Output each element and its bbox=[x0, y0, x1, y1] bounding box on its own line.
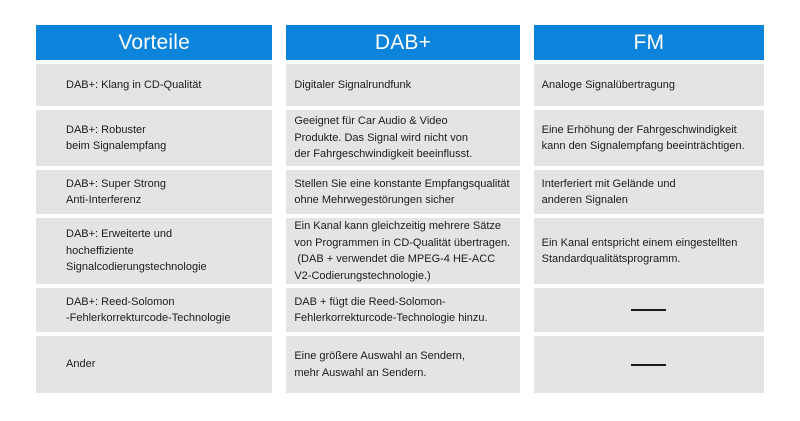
column-header-fm: FM bbox=[534, 25, 764, 60]
cell-line: DAB+: Erweiterte und bbox=[66, 226, 262, 243]
table-cell: Ein Kanal kann gleichzeitig mehrere Sätz… bbox=[286, 218, 519, 284]
column-advantages: Vorteile DAB+: Klang in CD-Qualität DAB+… bbox=[36, 25, 272, 393]
table-cell-empty bbox=[534, 288, 764, 332]
cell-line: -Fehlerkorrekturcode-Technologie bbox=[66, 310, 262, 327]
cell-line: DAB+: Klang in CD-Qualität bbox=[66, 77, 262, 94]
cell-line: V2-Codierungstechnologie.) bbox=[294, 268, 511, 285]
cell-line: DAB+: Reed-Solomon bbox=[66, 294, 262, 311]
cell-line: kann den Signalempfang beeinträchtigen. bbox=[542, 138, 756, 155]
cell-line: DAB + fügt die Reed-Solomon- bbox=[294, 294, 511, 311]
cell-line: beim Signalempfang bbox=[66, 138, 262, 155]
cell-line: der Fahrgeschwindigkeit beeinflusst. bbox=[294, 146, 511, 163]
table-cell: DAB+: Robuster beim Signalempfang bbox=[36, 110, 272, 166]
table-cell: Ander bbox=[36, 336, 272, 393]
table-cell: Eine größere Auswahl an Sendern, mehr Au… bbox=[286, 336, 519, 393]
table-cell: DAB+: Super Strong Anti-Interferenz bbox=[36, 170, 272, 214]
table-cell: DAB+: Klang in CD-Qualität bbox=[36, 64, 272, 106]
cell-line: Anti-Interferenz bbox=[66, 192, 262, 209]
cell-line: Produkte. Das Signal wird nicht von bbox=[294, 130, 511, 147]
cell-line: Ein Kanal kann gleichzeitig mehrere Sätz… bbox=[294, 218, 511, 235]
table-cell: DAB + fügt die Reed-Solomon- Fehlerkorre… bbox=[286, 288, 519, 332]
cell-line: Geeignet für Car Audio & Video bbox=[294, 113, 511, 130]
cell-line: ohne Mehrwegestörungen sicher bbox=[294, 192, 511, 209]
table-cell: DAB+: Erweiterte und hocheffiziente Sign… bbox=[36, 218, 272, 284]
cell-line: von Programmen in CD-Qualität übertragen… bbox=[294, 235, 511, 252]
cell-line: mehr Auswahl an Sendern. bbox=[294, 365, 511, 382]
column-dab: DAB+ Digitaler Signalrundfunk Geeignet f… bbox=[286, 25, 519, 393]
cell-line: Ander bbox=[66, 356, 262, 373]
cell-line: Analoge Signalübertragung bbox=[542, 77, 756, 94]
column-fm: FM Analoge Signalübertragung Eine Erhöhu… bbox=[534, 25, 764, 393]
cell-line: (DAB + verwendet die MPEG-4 HE-ACC bbox=[294, 251, 511, 268]
table-cell: Ein Kanal entspricht einem eingestellten… bbox=[534, 218, 764, 284]
cell-line: hocheffiziente bbox=[66, 243, 262, 260]
comparison-table: Vorteile DAB+: Klang in CD-Qualität DAB+… bbox=[36, 25, 764, 393]
table-cell: Analoge Signalübertragung bbox=[534, 64, 764, 106]
table-cell: Eine Erhöhung der Fahrgeschwindigkeit ka… bbox=[534, 110, 764, 166]
cell-line: Digitaler Signalrundfunk bbox=[294, 77, 511, 94]
cell-line: Stellen Sie eine konstante Empfangsquali… bbox=[294, 176, 511, 193]
cell-line: Standardqualitätsprogramm. bbox=[542, 251, 756, 268]
cell-line: DAB+: Super Strong bbox=[66, 176, 262, 193]
column-header-advantages: Vorteile bbox=[36, 25, 272, 60]
em-dash-icon bbox=[631, 309, 666, 311]
table-cell: Digitaler Signalrundfunk bbox=[286, 64, 519, 106]
column-header-dab: DAB+ bbox=[286, 25, 519, 60]
cell-line: DAB+: Robuster bbox=[66, 122, 262, 139]
table-cell: DAB+: Reed-Solomon -Fehlerkorrekturcode-… bbox=[36, 288, 272, 332]
em-dash-icon bbox=[631, 364, 666, 366]
table-cell-empty bbox=[534, 336, 764, 393]
cell-line: Ein Kanal entspricht einem eingestellten bbox=[542, 235, 756, 252]
cell-line: Signalcodierungstechnologie bbox=[66, 259, 262, 276]
table-cell: Stellen Sie eine konstante Empfangsquali… bbox=[286, 170, 519, 214]
cell-line: Eine Erhöhung der Fahrgeschwindigkeit bbox=[542, 122, 756, 139]
table-cell: Geeignet für Car Audio & Video Produkte.… bbox=[286, 110, 519, 166]
cell-line: Eine größere Auswahl an Sendern, bbox=[294, 348, 511, 365]
table-cell: Interferiert mit Gelände und anderen Sig… bbox=[534, 170, 764, 214]
cell-line: Interferiert mit Gelände und bbox=[542, 176, 756, 193]
cell-line: Fehlerkorrekturcode-Technologie hinzu. bbox=[294, 310, 511, 327]
cell-line: anderen Signalen bbox=[542, 192, 756, 209]
